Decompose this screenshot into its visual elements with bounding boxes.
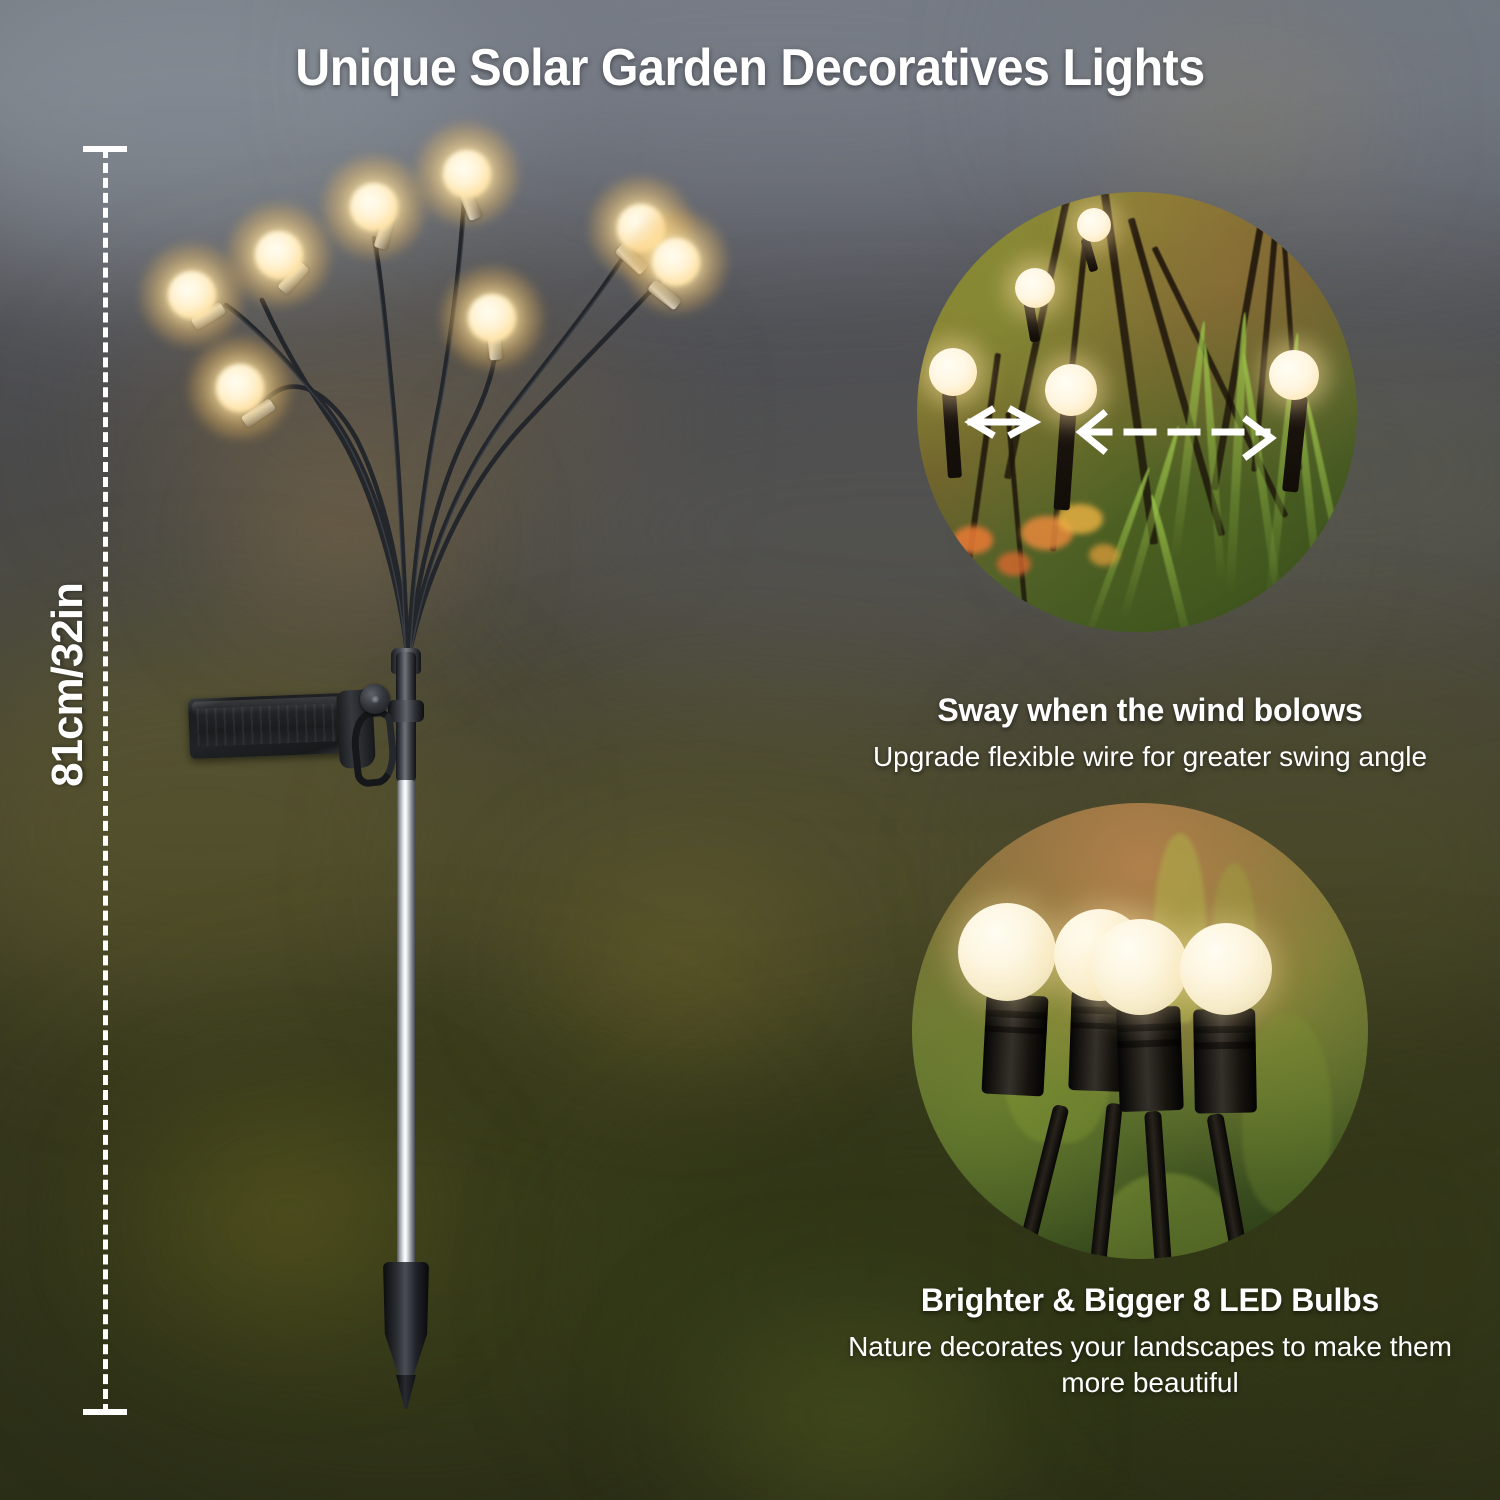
page-title: Unique Solar Garden Decoratives Lights: [53, 38, 1448, 98]
feature-photo-bulbs: [912, 803, 1368, 1259]
dimension-label: 81cm/32in: [43, 545, 93, 825]
swing-arrow-annotations: [917, 192, 1357, 632]
feature-subtext: Nature decorates your landscapes to make…: [830, 1329, 1470, 1401]
feature-caption-sway: Sway when the wind bolows Upgrade flexib…: [830, 692, 1470, 775]
feature-headline: Sway when the wind bolows: [830, 692, 1470, 729]
feature-caption-bulbs: Brighter & Bigger 8 LED Bulbs Nature dec…: [830, 1282, 1470, 1400]
product-infographic: Unique Solar Garden Decoratives Lights 8…: [0, 0, 1500, 1500]
dimension-dashed-line: [103, 148, 108, 1414]
feature-photo-sway: [917, 192, 1357, 632]
feature-headline: Brighter & Bigger 8 LED Bulbs: [830, 1282, 1470, 1319]
arrow-right-head-long: [1247, 420, 1271, 456]
dimension-cap-bottom: [83, 1409, 127, 1415]
feature-subtext: Upgrade flexible wire for greater swing …: [830, 739, 1470, 775]
